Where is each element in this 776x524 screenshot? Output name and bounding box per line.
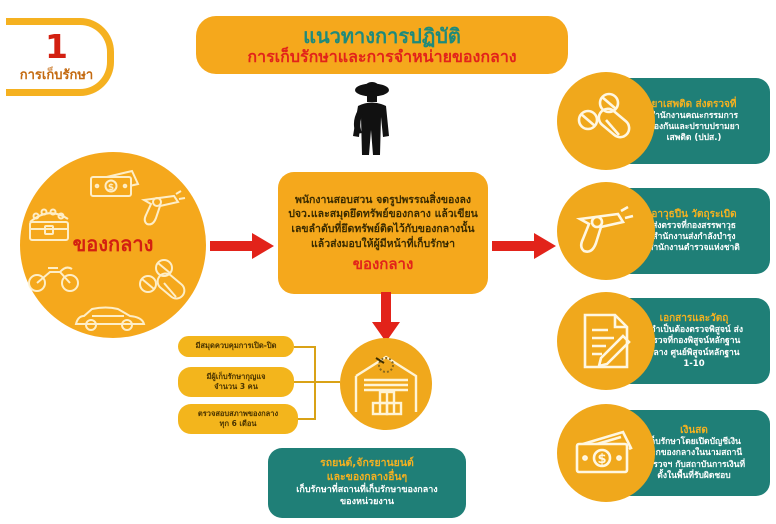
category-desc-cash: เก็บรักษาโดยเปิดบัญชีเงิน ฝากของกลางในนา… — [643, 437, 745, 481]
page-title: แนวทางการปฏิบัติ การเก็บรักษาและการจำหน่… — [196, 16, 568, 74]
storage-rule-text-3: ตรวจสอบสภาพของกลาง ทุก 6 เดือน — [198, 409, 278, 429]
connector-pill-2 — [294, 381, 340, 383]
warehouse-circle — [340, 338, 432, 430]
money-icon: $ — [88, 166, 142, 202]
investigator-instruction-box: พนักงานสอบสวน จดรูปพรรณสิ่งของลง ปจว.และ… — [278, 172, 488, 294]
category-icon-circle-documents — [557, 292, 655, 390]
police-officer-silhouette-icon — [338, 76, 406, 174]
step-badge: 1 การเก็บรักษา — [6, 18, 114, 96]
category-title-documents: เอกสารและวัตถุ — [660, 312, 729, 325]
connector-spine — [314, 346, 316, 420]
category-title-cash: เงินสด — [680, 424, 708, 437]
document-pen-icon — [577, 310, 635, 372]
storage-rule-pill-1: มีสมุดควบคุมการเปิด-ปิด — [178, 336, 294, 357]
center-line-3: เลขลำดับที่ยึดทรัพย์ติดไว้กับของกลางนั้น — [291, 223, 474, 237]
pills-capsule-icon — [575, 92, 637, 150]
category-desc-narcotics: สำนักงานคณะกรรมการ ป้องกันและปราบปรามยา … — [648, 111, 739, 144]
revolver-icon — [574, 203, 638, 259]
center-line-1: พนักงานสอบสวน จดรูปพรรณสิ่งของลง — [295, 194, 471, 208]
storage-rule-text-2: มีผู้เก็บรักษากุญแจ จำนวน 3 คน — [206, 372, 265, 392]
arrow-right-to-center — [210, 233, 274, 263]
connector-pill-1 — [294, 346, 316, 348]
category-panel-documents[interactable]: เอกสารและวัตถุ ที่จำเป็นต้องตรวจพิสูจน์ … — [557, 292, 770, 390]
category-icon-circle-cash: $ — [557, 404, 655, 502]
storage-rule-pill-2: มีผู้เก็บรักษากุญแจ จำนวน 3 คน — [178, 367, 294, 397]
car-icon — [72, 302, 148, 338]
step-number: 1 — [45, 30, 68, 63]
arrow-right-to-categories — [492, 233, 556, 263]
seized-goods-label: ของกลาง — [20, 228, 206, 260]
category-title-narcotics: ยาเสพติด ส่งตรวจที่ — [652, 98, 737, 111]
storage-rule-pill-3: ตรวจสอบสภาพของกลาง ทุก 6 เดือน — [178, 404, 298, 434]
title-primary: แนวทางการปฏิบัติ — [303, 25, 461, 47]
title-secondary: การเก็บรักษาและการจำหน่ายของกลาง — [247, 48, 516, 66]
center-line-2: ปจว.และสมุดยึดทรัพย์ของกลาง แล้วเขียน — [288, 208, 478, 222]
category-desc-firearms: ส่งตรวจที่กองสรรพาวุธ สำนักงานส่งกำลังบำ… — [648, 221, 740, 254]
category-title-firearms: อาวุธปืน วัตถุระเบิด — [651, 208, 736, 221]
category-icon-circle-firearms — [557, 182, 655, 280]
svg-text:$: $ — [108, 183, 114, 193]
category-icon-circle-narcotics — [557, 72, 655, 170]
center-line-4: แล้วส่งมอบให้ผู้มีหน้าที่เก็บรักษา — [311, 238, 455, 252]
step-label: การเก็บรักษา — [20, 64, 93, 85]
category-panel-firearms[interactable]: อาวุธปืน วัตถุระเบิด ส่งตรวจที่กองสรรพาว… — [557, 182, 770, 280]
category-panel-narcotics[interactable]: ยาเสพติด ส่งตรวจที่ สำนักงานคณะกรรมการ ป… — [557, 72, 770, 170]
center-highlight: ของกลาง — [353, 255, 414, 275]
banknotes-icon: $ — [573, 428, 639, 478]
vehicles-storage-title: รถยนต์,จักรยานยนต์ และของกลางอื่นๆ — [320, 457, 414, 484]
vehicles-storage-box: รถยนต์,จักรยานยนต์ และของกลางอื่นๆ เก็บร… — [268, 448, 466, 518]
warehouse-sealed-icon — [352, 352, 420, 420]
motorcycle-icon — [26, 258, 82, 298]
storage-rule-text-1: มีสมุดควบคุมการเปิด-ปิด — [195, 341, 276, 351]
category-panel-cash[interactable]: เงินสด เก็บรักษาโดยเปิดบัญชีเงิน ฝากของก… — [557, 404, 770, 502]
vehicles-storage-desc: เก็บรักษาที่สถานที่เก็บรักษาของกลาง ของห… — [296, 485, 437, 509]
svg-text:$: $ — [597, 452, 606, 467]
infographic-canvas: 1 การเก็บรักษา แนวทางการปฏิบัติ การเก็บร… — [0, 0, 776, 524]
category-desc-documents: ที่จำเป็นต้องตรวจพิสูจน์ ส่ง ตรวจที่กองพ… — [645, 325, 743, 369]
